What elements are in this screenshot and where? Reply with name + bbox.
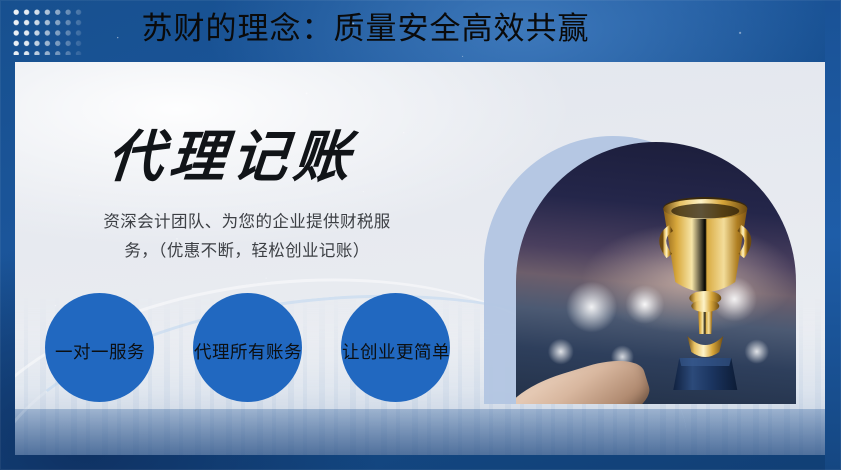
trophy-photo-image [516,142,796,404]
trophy-icon [649,194,761,394]
right-edge-strip-decoration [825,0,841,470]
headline: 代理记账 [104,112,359,193]
feature-label-3: 让创业更简单 [301,339,491,364]
slide-canvas: 苏财的理念：质量安全高效共赢 代理记账 资深会计团队、为您的企业提供财税服 务，… [0,0,841,470]
trophy-photo [516,142,796,404]
subtitle-line-2: 务，（优惠不断，轻松创业记账） [52,237,442,266]
subtitle: 资深会计团队、为您的企业提供财税服 务，（优惠不断，轻松创业记账） [52,208,442,266]
hand-arm-decoration [516,351,656,404]
subtitle-line-1: 资深会计团队、为您的企业提供财税服 [52,208,442,237]
page-title: 苏财的理念：质量安全高效共赢 [0,7,841,51]
